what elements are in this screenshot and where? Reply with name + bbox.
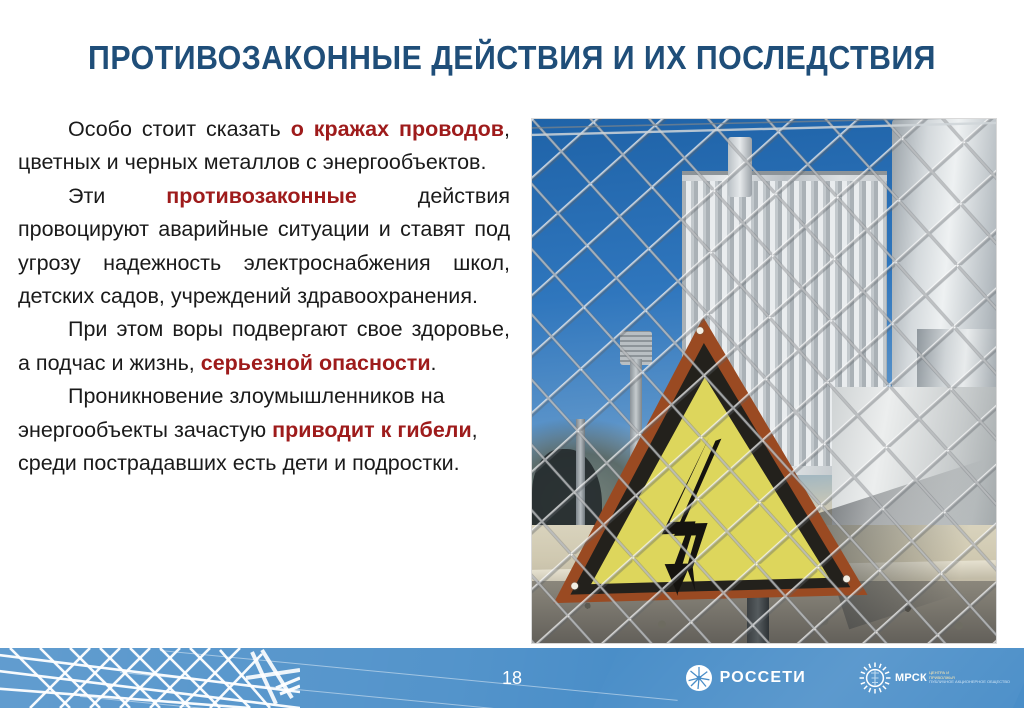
footer-logos: РОССЕТИ [686,648,1010,708]
paragraph-3: При этом воры подвергают свое здоровье, … [18,313,510,380]
body-text-column: Особо стоит сказать о кражах проводов, ц… [18,113,510,480]
lightning-bolt-icon [653,434,757,597]
paragraph-4: Проникновение злоумышленников на энергоо… [18,380,510,480]
mrsk-sub-line-3: ПУБЛИЧНОЕ АКЦИОНЕРНОЕ ОБЩЕСТВО [929,680,1010,685]
paragraph-2: Эти противозаконные действия провоцируют… [18,180,510,314]
text-run: . [431,351,437,375]
highlight-run: о кражах проводов [291,117,504,141]
text-run: Особо стоит сказать [68,117,291,141]
mrsk-sunburst-icon [858,661,892,695]
rosseti-swirl-icon [686,665,712,691]
slide-footer: 18 [0,648,1024,708]
substation-photo [531,118,997,644]
transformer-bushing [728,137,752,197]
mrsk-subtitle: ЦЕНТРА И ПРИВОЛЖЬЯ ПУБЛИЧНОЕ АКЦИОНЕРНОЕ… [929,671,1010,685]
paragraph-1: Особо стоит сказать о кражах проводов, ц… [18,113,510,180]
page-title: ПРОТИВОЗАКОННЫЕ ДЕЙСТВИЯ И ИХ ПОСЛЕДСТВИ… [41,38,983,78]
slide: ПРОТИВОЗАКОННЫЕ ДЕЙСТВИЯ И ИХ ПОСЛЕДСТВИ… [0,0,1024,708]
rosseti-logo: РОССЕТИ [686,665,806,691]
highlight-run: приводит к гибели [272,418,472,442]
mrsk-abbreviation: МРСК [895,672,927,684]
highlight-run: серьезной опасности [201,351,431,375]
highlight-run: противозаконные [166,184,357,208]
rosseti-logo-text: РОССЕТИ [720,669,806,687]
mrsk-logo-text: МРСК ЦЕНТРА И ПРИВОЛЖЬЯ ПУБЛИЧНОЕ АКЦИОН… [895,671,1010,685]
electrical-hazard-sign [546,313,867,611]
text-run: Эти [68,184,166,208]
mrsk-logo: МРСК ЦЕНТРА И ПРИВОЛЖЬЯ ПУБЛИЧНОЕ АКЦИОН… [858,661,1010,695]
